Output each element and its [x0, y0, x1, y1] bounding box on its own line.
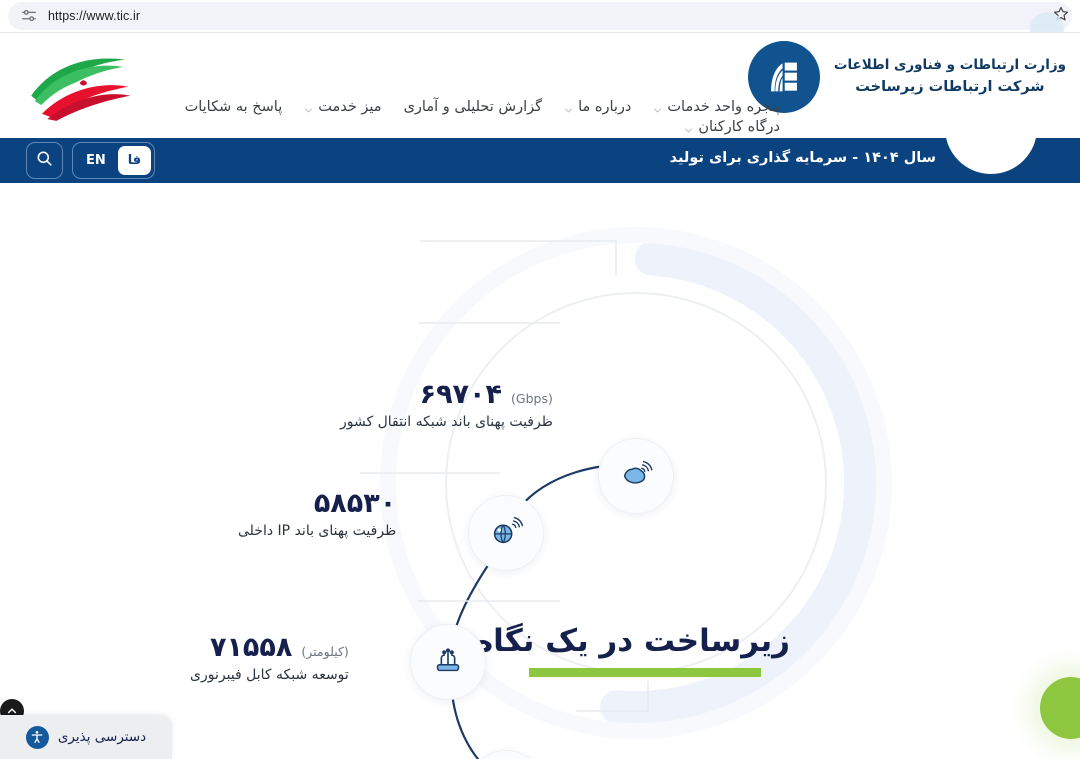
infographic-section: زیرساخت در یک نگاه (Gbps) ۶۹۷۰۴ ظرفیت په… [0, 183, 1080, 759]
chevron-down-icon [564, 103, 573, 112]
language-toggle[interactable]: فا EN [72, 142, 155, 179]
year-slogan: سال ۱۴۰۴ - سرمایه گذاری برای تولید [670, 150, 936, 166]
stat-label: ظرفیت پهنای باند IP داخلی [238, 523, 396, 539]
node-domestic-ip-bandwidth[interactable] [468, 495, 544, 571]
brand-line-company: شرکت ارتباطات زیرساخت [834, 76, 1066, 98]
node-transit-bandwidth[interactable] [598, 438, 674, 514]
page-title: زیرساخت در یک نگاه [500, 623, 790, 659]
nav-label: درگاه کارکنان [698, 119, 780, 135]
brand-text: وزارت ارتباطات و فناوری اطلاعات شرکت ارت… [834, 55, 1066, 98]
search-icon [35, 149, 54, 172]
utility-bar: سال ۱۴۰۴ - سرمایه گذاری برای تولید [0, 138, 1080, 183]
accessibility-icon [26, 726, 49, 749]
nav-label: درباره ما [578, 99, 631, 115]
chevron-down-icon [653, 103, 662, 112]
lang-option-fa[interactable]: فا [118, 146, 151, 175]
accessibility-label: دسترسی پذیری [58, 729, 146, 745]
node-fiber-network[interactable] [410, 624, 486, 700]
main-nav: پنجره واحد خدمات درباره ما گزارش تحلیلی … [140, 97, 780, 137]
stat-label: ظرفیت پهنای باند شبکه انتقال کشور [340, 414, 553, 430]
site-settings-icon[interactable] [20, 7, 38, 25]
nav-item-staff-portal[interactable]: درگاه کارکنان [684, 117, 780, 137]
address-bar[interactable]: https://www.tic.ir [8, 2, 1072, 30]
nav-item-complaints[interactable]: پاسخ به شکایات [185, 97, 283, 117]
search-button[interactable] [26, 142, 63, 179]
stat-label: توسعه شبکه کابل فیبرنوری [190, 667, 349, 683]
browser-toolbar: https://www.tic.ir [0, 0, 1080, 32]
stat-value: ۵۸۵۳۰ [314, 488, 396, 519]
iran-map-signal-icon [617, 455, 655, 497]
fiber-optic-icon [429, 641, 467, 683]
stat-unit: (کیلومتر) [301, 644, 348, 659]
nav-item-service-desk[interactable]: میز خدمت [304, 97, 381, 117]
stat-fiber-network: (کیلومتر) ۷۱۵۵۸ توسعه شبکه کابل فیبرنوری [190, 632, 349, 683]
site-header: وزارت ارتباطات و فناوری اطلاعات شرکت ارت… [0, 33, 1080, 138]
stat-value: ۷۱۵۵۸ [210, 632, 292, 663]
logo-notch [945, 138, 1037, 174]
chevron-down-icon [684, 123, 693, 132]
stat-unit: (Gbps) [511, 391, 553, 406]
infographic-title-block: زیرساخت در یک نگاه [500, 623, 790, 677]
stat-transit-bandwidth: (Gbps) ۶۹۷۰۴ ظرفیت پهنای باند شبکه انتقا… [340, 379, 553, 430]
brand-block[interactable]: وزارت ارتباطات و فناوری اطلاعات شرکت ارت… [748, 41, 1066, 113]
lang-option-en[interactable]: EN [76, 146, 116, 175]
title-underline [529, 668, 761, 677]
url-text: https://www.tic.ir [48, 9, 140, 23]
nav-item-services-window[interactable]: پنجره واحد خدمات [653, 97, 780, 117]
stat-value: ۶۹۷۰۴ [420, 379, 502, 410]
nav-item-about-us[interactable]: درباره ما [564, 97, 631, 117]
stat-domestic-ip-bandwidth: ۵۸۵۳۰ ظرفیت پهنای باند IP داخلی [238, 488, 396, 539]
nav-label: پاسخ به شکایات [185, 99, 283, 115]
chevron-down-icon [304, 103, 313, 112]
nav-label: گزارش تحلیلی و آماری [404, 99, 543, 115]
nav-label: پنجره واحد خدمات [667, 99, 780, 115]
iran-flag-icon [24, 43, 132, 125]
brand-line-ministry: وزارت ارتباطات و فناوری اطلاعات [834, 55, 1066, 76]
nav-label: میز خدمت [318, 99, 381, 115]
accessibility-widget[interactable]: دسترسی پذیری [0, 715, 172, 759]
nav-item-analytical-reports[interactable]: گزارش تحلیلی و آماری [404, 97, 543, 117]
globe-signal-icon [487, 512, 525, 554]
